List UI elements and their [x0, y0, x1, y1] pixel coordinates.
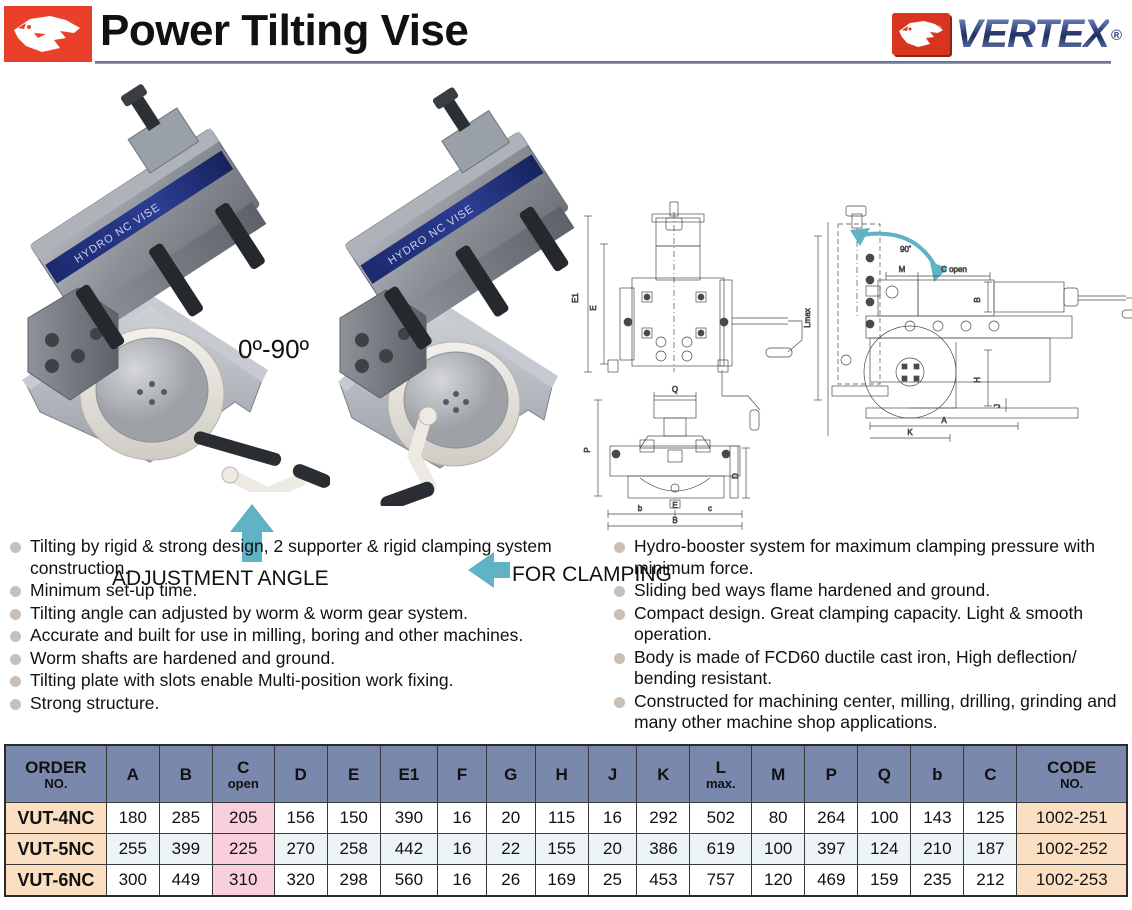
spec-cell: 100 — [752, 834, 805, 865]
spec-cell: 300 — [106, 865, 159, 897]
feature-item: Hydro-booster system for maximum clampin… — [612, 536, 1128, 579]
spec-cell: 453 — [637, 865, 690, 897]
feature-text: Sliding bed ways flame hardened and grou… — [634, 580, 990, 600]
page-header: Power Tilting Vise ® VERTEX® — [0, 0, 1132, 72]
bullet-dot-icon — [614, 586, 625, 597]
spec-cell: 120 — [752, 865, 805, 897]
bullet-dot-icon — [10, 542, 21, 553]
feature-item: Strong structure. — [8, 693, 608, 715]
brand-eagle-icon: ® — [892, 13, 950, 55]
spec-cell: 320 — [274, 865, 327, 897]
spec-cell: 159 — [858, 865, 911, 897]
spec-cell: 169 — [535, 865, 588, 897]
code-number-cell: 1002-252 — [1017, 834, 1127, 865]
code-number-cell: 1002-253 — [1017, 865, 1127, 897]
technical-drawings: E1 E — [570, 200, 1132, 545]
spec-cell: 264 — [805, 803, 858, 834]
column-header-j: J — [588, 745, 637, 803]
feature-text: Compact design. Great clamping capacity.… — [634, 603, 1083, 645]
svg-text:E1: E1 — [571, 293, 580, 303]
title-underline — [95, 61, 1111, 64]
spec-cell: 187 — [964, 834, 1017, 865]
spec-cell: 22 — [486, 834, 535, 865]
table-header-row: ORDERNO.ABCopenDEE1FGHJKLmax.MPQbCCODENO… — [5, 745, 1127, 803]
table-row: VUT-6NC300449310320298560162616925453757… — [5, 865, 1127, 897]
bullet-dot-icon — [614, 697, 625, 708]
product-photo-area: HYDRO NC VISE HYDRO NC VI — [0, 72, 1132, 527]
bullet-dot-icon — [614, 653, 625, 664]
svg-text:P: P — [583, 447, 592, 452]
spec-cell: 150 — [327, 803, 380, 834]
spec-cell: 502 — [690, 803, 752, 834]
column-header-m: M — [752, 745, 805, 803]
feature-text: Minimum set-up time. — [30, 580, 197, 600]
column-header-k: K — [637, 745, 690, 803]
column-header-q: Q — [858, 745, 911, 803]
svg-text:H: H — [973, 377, 982, 383]
column-header-order-no-: ORDERNO. — [5, 745, 106, 803]
specification-table: ORDERNO.ABCopenDEE1FGHJKLmax.MPQbCCODENO… — [4, 744, 1128, 897]
svg-text:E: E — [672, 501, 677, 510]
spec-cell: 285 — [159, 803, 212, 834]
svg-text:90˚: 90˚ — [900, 245, 912, 254]
column-header-l-max-: Lmax. — [690, 745, 752, 803]
order-number-cell: VUT-6NC — [5, 865, 106, 897]
spec-cell: 180 — [106, 803, 159, 834]
column-header-b: b — [911, 745, 964, 803]
spec-cell: 270 — [274, 834, 327, 865]
angle-range-label: 0º-90º — [238, 334, 309, 365]
svg-text:B: B — [672, 516, 677, 525]
svg-text:C open: C open — [941, 265, 967, 274]
spec-cell: 386 — [637, 834, 690, 865]
spec-cell: 143 — [911, 803, 964, 834]
feature-text: Tilting by rigid & strong design, 2 supp… — [30, 536, 552, 578]
features-list-left: Tilting by rigid & strong design, 2 supp… — [8, 536, 608, 715]
spec-cell: 16 — [438, 803, 487, 834]
feature-item: Minimum set-up time. — [8, 580, 608, 602]
feature-text: Hydro-booster system for maximum clampin… — [634, 536, 1095, 578]
c-open-cell: 205 — [212, 803, 274, 834]
bullet-dot-icon — [614, 609, 625, 620]
features-list-right: Hydro-booster system for maximum clampin… — [612, 536, 1128, 735]
svg-text:Lmax: Lmax — [803, 308, 812, 328]
column-header-a: A — [106, 745, 159, 803]
spec-cell: 20 — [588, 834, 637, 865]
feature-item: Constructed for machining center, millin… — [612, 691, 1128, 734]
tilting-vise-photo-left: HYDRO NC VISE — [0, 82, 330, 492]
column-header-d: D — [274, 745, 327, 803]
feature-item: Worm shafts are hardened and ground. — [8, 648, 608, 670]
column-header-code-no-: CODENO. — [1017, 745, 1127, 803]
spec-cell: 124 — [858, 834, 911, 865]
svg-text:D: D — [731, 473, 740, 479]
svg-text:®: ® — [936, 25, 942, 33]
svg-text:K: K — [907, 428, 913, 437]
spec-cell: 125 — [964, 803, 1017, 834]
feature-item: Compact design. Great clamping capacity.… — [612, 603, 1128, 646]
svg-text:A: A — [941, 416, 947, 425]
bullet-dot-icon — [10, 631, 21, 642]
svg-text:E: E — [589, 305, 598, 310]
spec-cell: 390 — [380, 803, 437, 834]
feature-text: Strong structure. — [30, 693, 159, 713]
vertex-brand-logo: ® VERTEX® — [892, 8, 1122, 60]
feature-text: Constructed for machining center, millin… — [634, 691, 1116, 733]
brand-name: VERTEX — [956, 12, 1109, 56]
table-row: VUT-5NC255399225270258442162215520386619… — [5, 834, 1127, 865]
order-number-cell: VUT-5NC — [5, 834, 106, 865]
svg-text:Q: Q — [672, 385, 678, 394]
column-header-p: P — [805, 745, 858, 803]
spec-cell: 155 — [535, 834, 588, 865]
bullet-dot-icon — [10, 586, 21, 597]
column-header-h: H — [535, 745, 588, 803]
c-open-cell: 310 — [212, 865, 274, 897]
bullet-dot-icon — [10, 609, 21, 620]
spec-cell: 156 — [274, 803, 327, 834]
spec-cell: 258 — [327, 834, 380, 865]
tilting-vise-photo-right: HYDRO NC VISE — [322, 86, 602, 506]
spec-cell: 25 — [588, 865, 637, 897]
table-row: VUT-4NC180285205156150390162011516292502… — [5, 803, 1127, 834]
spec-cell: 757 — [690, 865, 752, 897]
feature-item: Tilting angle can adjusted by worm & wor… — [8, 603, 608, 625]
svg-text:c: c — [708, 504, 712, 513]
spec-cell: 449 — [159, 865, 212, 897]
spec-cell: 115 — [535, 803, 588, 834]
svg-text:B: B — [973, 297, 982, 302]
spec-cell: 26 — [486, 865, 535, 897]
feature-item: Tilting by rigid & strong design, 2 supp… — [8, 536, 608, 579]
spec-cell: 255 — [106, 834, 159, 865]
spec-cell: 16 — [438, 865, 487, 897]
feature-text: Worm shafts are hardened and ground. — [30, 648, 335, 668]
spec-cell: 212 — [964, 865, 1017, 897]
column-header-c: C — [964, 745, 1017, 803]
bullet-dot-icon — [614, 542, 625, 553]
spec-cell: 80 — [752, 803, 805, 834]
spec-cell: 442 — [380, 834, 437, 865]
column-header-f: F — [438, 745, 487, 803]
svg-text:J: J — [993, 404, 1002, 408]
bullet-dot-icon — [10, 699, 21, 710]
spec-cell: 619 — [690, 834, 752, 865]
column-header-b: B — [159, 745, 212, 803]
spec-cell: 100 — [858, 803, 911, 834]
spec-cell: 20 — [486, 803, 535, 834]
feature-text: Tilting angle can adjusted by worm & wor… — [30, 603, 468, 623]
column-header-e1: E1 — [380, 745, 437, 803]
code-number-cell: 1002-251 — [1017, 803, 1127, 834]
bullet-dot-icon — [10, 654, 21, 665]
feature-text: Tilting plate with slots enable Multi-po… — [30, 670, 453, 690]
spec-cell: 235 — [911, 865, 964, 897]
spec-cell: 210 — [911, 834, 964, 865]
spec-cell: 16 — [438, 834, 487, 865]
registered-trademark-icon: ® — [1111, 27, 1122, 44]
spec-cell: 399 — [159, 834, 212, 865]
spec-cell: 469 — [805, 865, 858, 897]
column-header-c-open: Copen — [212, 745, 274, 803]
spec-cell: 292 — [637, 803, 690, 834]
order-number-cell: VUT-4NC — [5, 803, 106, 834]
feature-item: Sliding bed ways flame hardened and grou… — [612, 580, 1128, 602]
svg-text:M: M — [899, 265, 906, 274]
column-header-e: E — [327, 745, 380, 803]
spec-cell: 397 — [805, 834, 858, 865]
feature-item: Accurate and built for use in milling, b… — [8, 625, 608, 647]
svg-text:b: b — [638, 504, 643, 513]
column-header-g: G — [486, 745, 535, 803]
feature-item: Tilting plate with slots enable Multi-po… — [8, 670, 608, 692]
feature-text: Accurate and built for use in milling, b… — [30, 625, 523, 645]
eagle-logo-icon — [4, 6, 92, 62]
bullet-dot-icon — [10, 676, 21, 687]
spec-cell: 298 — [327, 865, 380, 897]
page-title: Power Tilting Vise — [100, 2, 468, 60]
spec-cell: 560 — [380, 865, 437, 897]
spec-cell: 16 — [588, 803, 637, 834]
feature-text: Body is made of FCD60 ductile cast iron,… — [634, 647, 1077, 689]
c-open-cell: 225 — [212, 834, 274, 865]
feature-item: Body is made of FCD60 ductile cast iron,… — [612, 647, 1128, 690]
